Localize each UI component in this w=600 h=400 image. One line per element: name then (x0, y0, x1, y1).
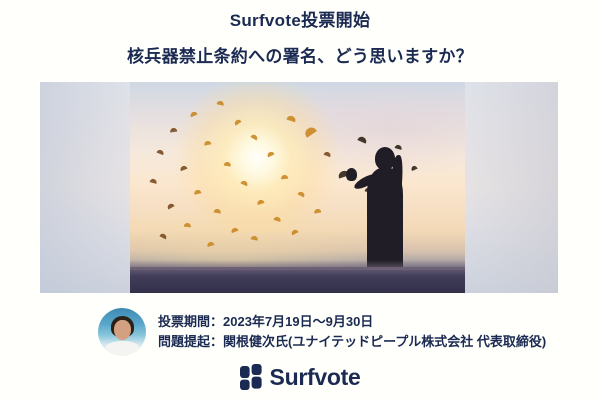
horizon-line (130, 267, 465, 293)
avatar (98, 308, 146, 356)
avatar-face (114, 320, 131, 340)
issue-proposer-line: 問題提起：関根健次氏(ユナイテッドピープル株式会社 代表取締役) (158, 334, 546, 350)
surfvote-logo: Surfvote (0, 364, 600, 390)
credit-row: 投票期間：2023年7月19日〜9月30日 問題提起：関根健次氏(ユナイテッドピ… (98, 308, 546, 356)
page-subtitle: 核兵器禁止条約への署名、どう思いますか？ (0, 44, 600, 70)
surfvote-wordmark: Surfvote (270, 366, 361, 389)
sunset-birds-photo (130, 82, 465, 293)
credit-text-block: 投票期間：2023年7月19日〜9月30日 問題提起：関根健次氏(ユナイテッドピ… (158, 314, 546, 350)
surfvote-logo-mark-icon (240, 364, 263, 390)
girl-hand (346, 168, 357, 181)
page-heading-block: Surfvote投票開始 核兵器禁止条約への署名、どう思いますか？ (0, 8, 600, 69)
banner-image (40, 82, 558, 293)
girl-head (375, 147, 395, 170)
voting-period-line: 投票期間：2023年7月19日〜9月30日 (158, 314, 546, 330)
page-title: Surfvote投票開始 (0, 8, 600, 34)
avatar-body (105, 341, 140, 356)
